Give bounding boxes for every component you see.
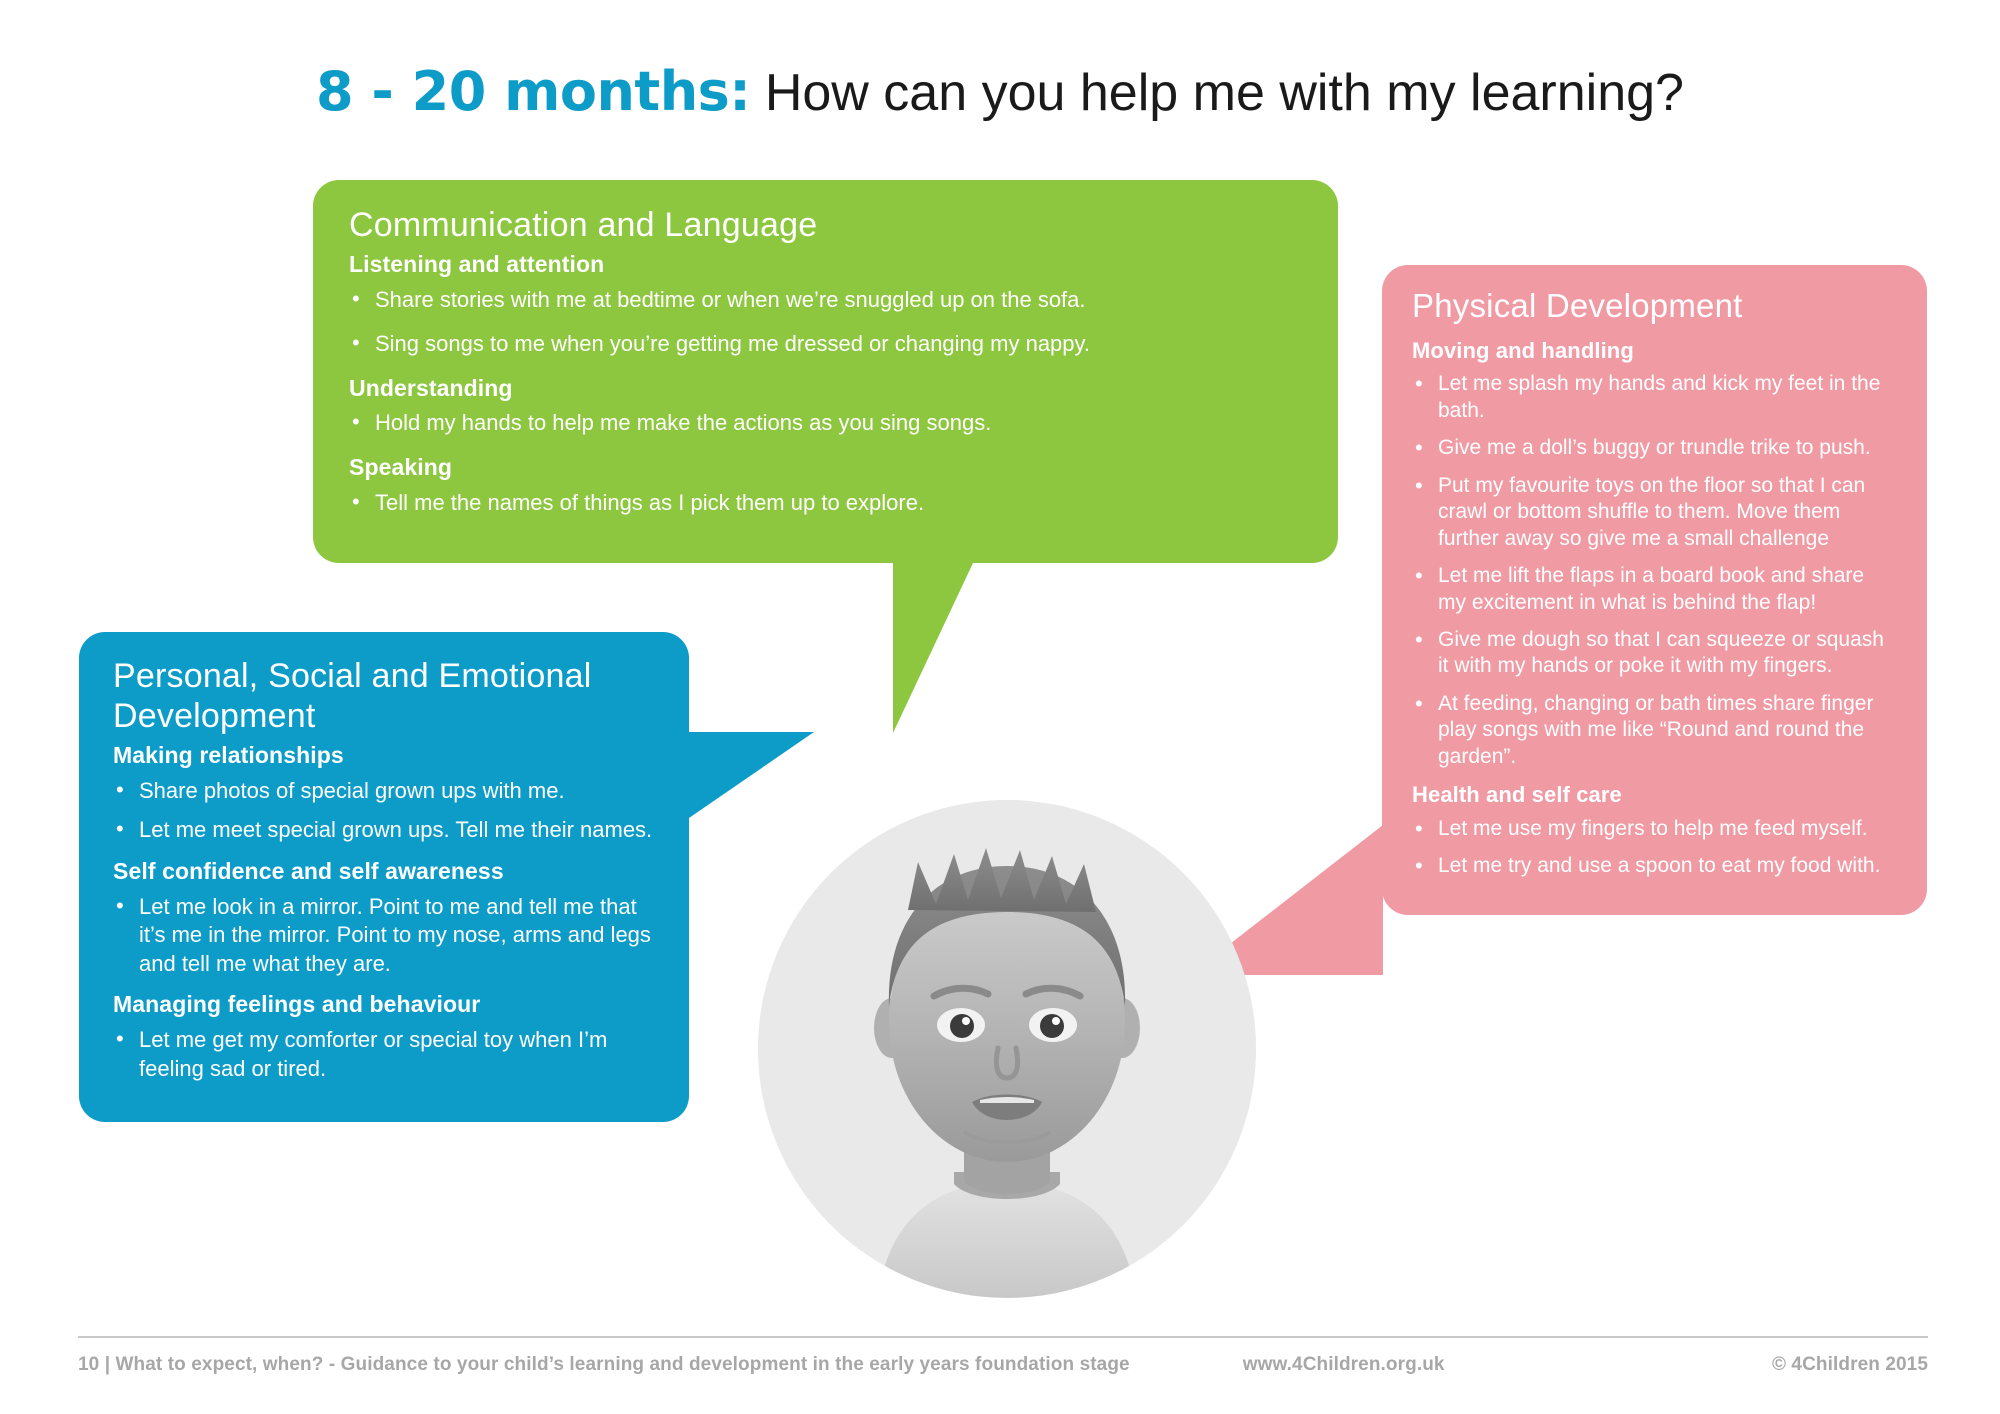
speech-bubble-physical-development: Physical Development Moving and handling… <box>1382 265 1927 915</box>
subheading-understanding: Understanding <box>349 375 1302 403</box>
list-understanding: Hold my hands to help me make the action… <box>349 409 1302 438</box>
list-item: Put my favourite toys on the floor so th… <box>1412 473 1897 552</box>
subheading-moving-and-handling: Moving and handling <box>1412 338 1897 364</box>
list-item: Let me get my comforter or special toy w… <box>113 1026 655 1083</box>
list-item: Let me use my fingers to help me feed my… <box>1412 816 1897 842</box>
list-item: Let me lift the flaps in a board book an… <box>1412 563 1897 616</box>
subheading-health-and-self-care: Health and self care <box>1412 782 1897 808</box>
list-item: Tell me the names of things as I pick th… <box>349 489 1302 518</box>
list-self-confidence: Let me look in a mirror. Point to me and… <box>113 893 655 979</box>
speech-bubble-personal-social-emotional-development: Personal, Social and Emotional Developme… <box>79 632 689 1122</box>
list-item: Give me dough so that I can squeeze or s… <box>1412 627 1897 680</box>
subheading-listening-and-attention: Listening and attention <box>349 251 1302 279</box>
list-item: Let me look in a mirror. Point to me and… <box>113 893 655 979</box>
bubble-heading-physical-development: Physical Development <box>1412 287 1897 326</box>
subheading-self-confidence-and-self-awareness: Self confidence and self awareness <box>113 858 655 886</box>
list-item: Give me a doll’s buggy or trundle trike … <box>1412 435 1897 461</box>
list-item: Let me splash my hands and kick my feet … <box>1412 371 1897 424</box>
bubble-heading-communication: Communication and Language <box>349 205 1302 245</box>
list-making-relationships: Share photos of special grown ups with m… <box>113 777 655 845</box>
subheading-speaking: Speaking <box>349 454 1302 482</box>
list-listening-and-attention: Share stories with me at bedtime or when… <box>349 286 1302 359</box>
footer-copyright: © 4Children 2015 <box>1772 1354 1928 1376</box>
page-title-question: How can you help me with my learning? <box>750 64 1684 122</box>
list-moving-and-handling: Let me splash my hands and kick my feet … <box>1412 371 1897 770</box>
baby-photo-circle <box>758 800 1256 1298</box>
list-managing-feelings: Let me get my comforter or special toy w… <box>113 1026 655 1083</box>
list-item: Sing songs to me when you’re getting me … <box>349 330 1302 359</box>
list-item: Hold my hands to help me make the action… <box>349 409 1302 438</box>
subheading-managing-feelings-and-behaviour: Managing feelings and behaviour <box>113 991 655 1019</box>
baby-portrait-photo <box>758 800 1256 1298</box>
subheading-making-relationships: Making relationships <box>113 742 655 770</box>
list-item: At feeding, changing or bath times share… <box>1412 691 1897 770</box>
footer-page-and-title: 10 | What to expect, when? - Guidance to… <box>78 1354 1130 1376</box>
list-health-and-self-care: Let me use my fingers to help me feed my… <box>1412 816 1897 880</box>
list-speaking: Tell me the names of things as I pick th… <box>349 489 1302 518</box>
page-title: 8 - 20 months: How can you help me with … <box>0 60 2000 123</box>
list-item: Share photos of special grown ups with m… <box>113 777 655 806</box>
page-footer: 10 | What to expect, when? - Guidance to… <box>78 1336 1928 1376</box>
footer-website-link[interactable]: www.4Children.org.uk <box>1243 1354 1445 1376</box>
speech-bubble-communication-and-language: Communication and Language Listening and… <box>313 180 1338 563</box>
page-title-age-range: 8 - 20 months: <box>316 60 750 123</box>
bubble-heading-psed: Personal, Social and Emotional Developme… <box>113 656 655 736</box>
speech-bubble-tail-green <box>893 563 973 733</box>
list-item: Let me try and use a spoon to eat my foo… <box>1412 853 1897 879</box>
list-item: Let me meet special grown ups. Tell me t… <box>113 816 655 845</box>
list-item: Share stories with me at bedtime or when… <box>349 286 1302 315</box>
